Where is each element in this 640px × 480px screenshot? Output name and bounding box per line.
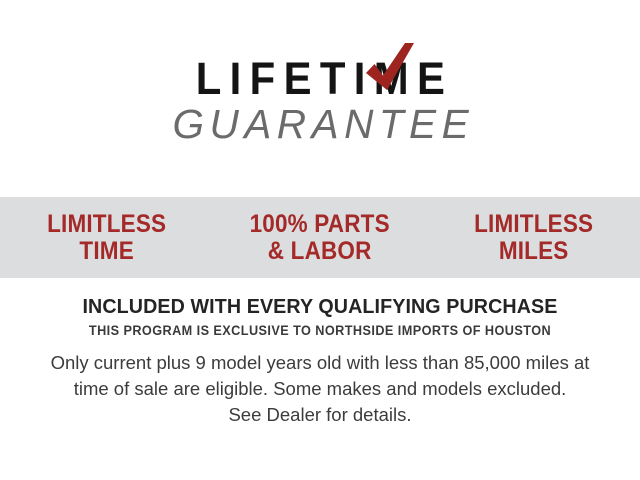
benefit-column-limitless-miles: LIMITLESS MILES <box>437 211 629 264</box>
benefit-line-2: MILES <box>437 238 629 265</box>
disclaimer-line: See Dealer for details. <box>30 402 610 428</box>
headline: INCLUDED WITH EVERY QUALIFYING PURCHASE <box>13 297 627 318</box>
logo-lockup: LIFETIME GUARANTEE <box>165 56 476 145</box>
benefit-column-limitless-time: LIMITLESS TIME <box>11 211 203 264</box>
benefit-column-parts-labor: 100% PARTS & LABOR <box>224 211 416 264</box>
benefit-line-2: TIME <box>11 238 203 265</box>
disclaimer-line: time of sale are eligible. Some makes an… <box>30 376 610 402</box>
logo-secondary-text: GUARANTEE <box>166 104 474 145</box>
disclaimer-text: Only current plus 9 model years old with… <box>30 350 610 428</box>
benefit-line-2: & LABOR <box>224 238 416 265</box>
benefit-line-1: LIMITLESS <box>437 211 629 238</box>
benefit-line-1: 100% PARTS <box>224 211 416 238</box>
disclaimer-line: Only current plus 9 model years old with… <box>30 350 610 376</box>
subheadline: THIS PROGRAM IS EXCLUSIVE TO NORTHSIDE I… <box>19 324 621 338</box>
benefits-band: LIMITLESS TIME 100% PARTS & LABOR LIMITL… <box>0 197 640 278</box>
benefit-line-1: LIMITLESS <box>11 211 203 238</box>
logo-primary-text: LIFETIME <box>176 56 465 101</box>
logo-block: LIFETIME GUARANTEE <box>0 56 640 145</box>
lifetime-guarantee-advertisement: LIFETIME GUARANTEE LIMITLESS TIME 100% P… <box>0 0 640 480</box>
